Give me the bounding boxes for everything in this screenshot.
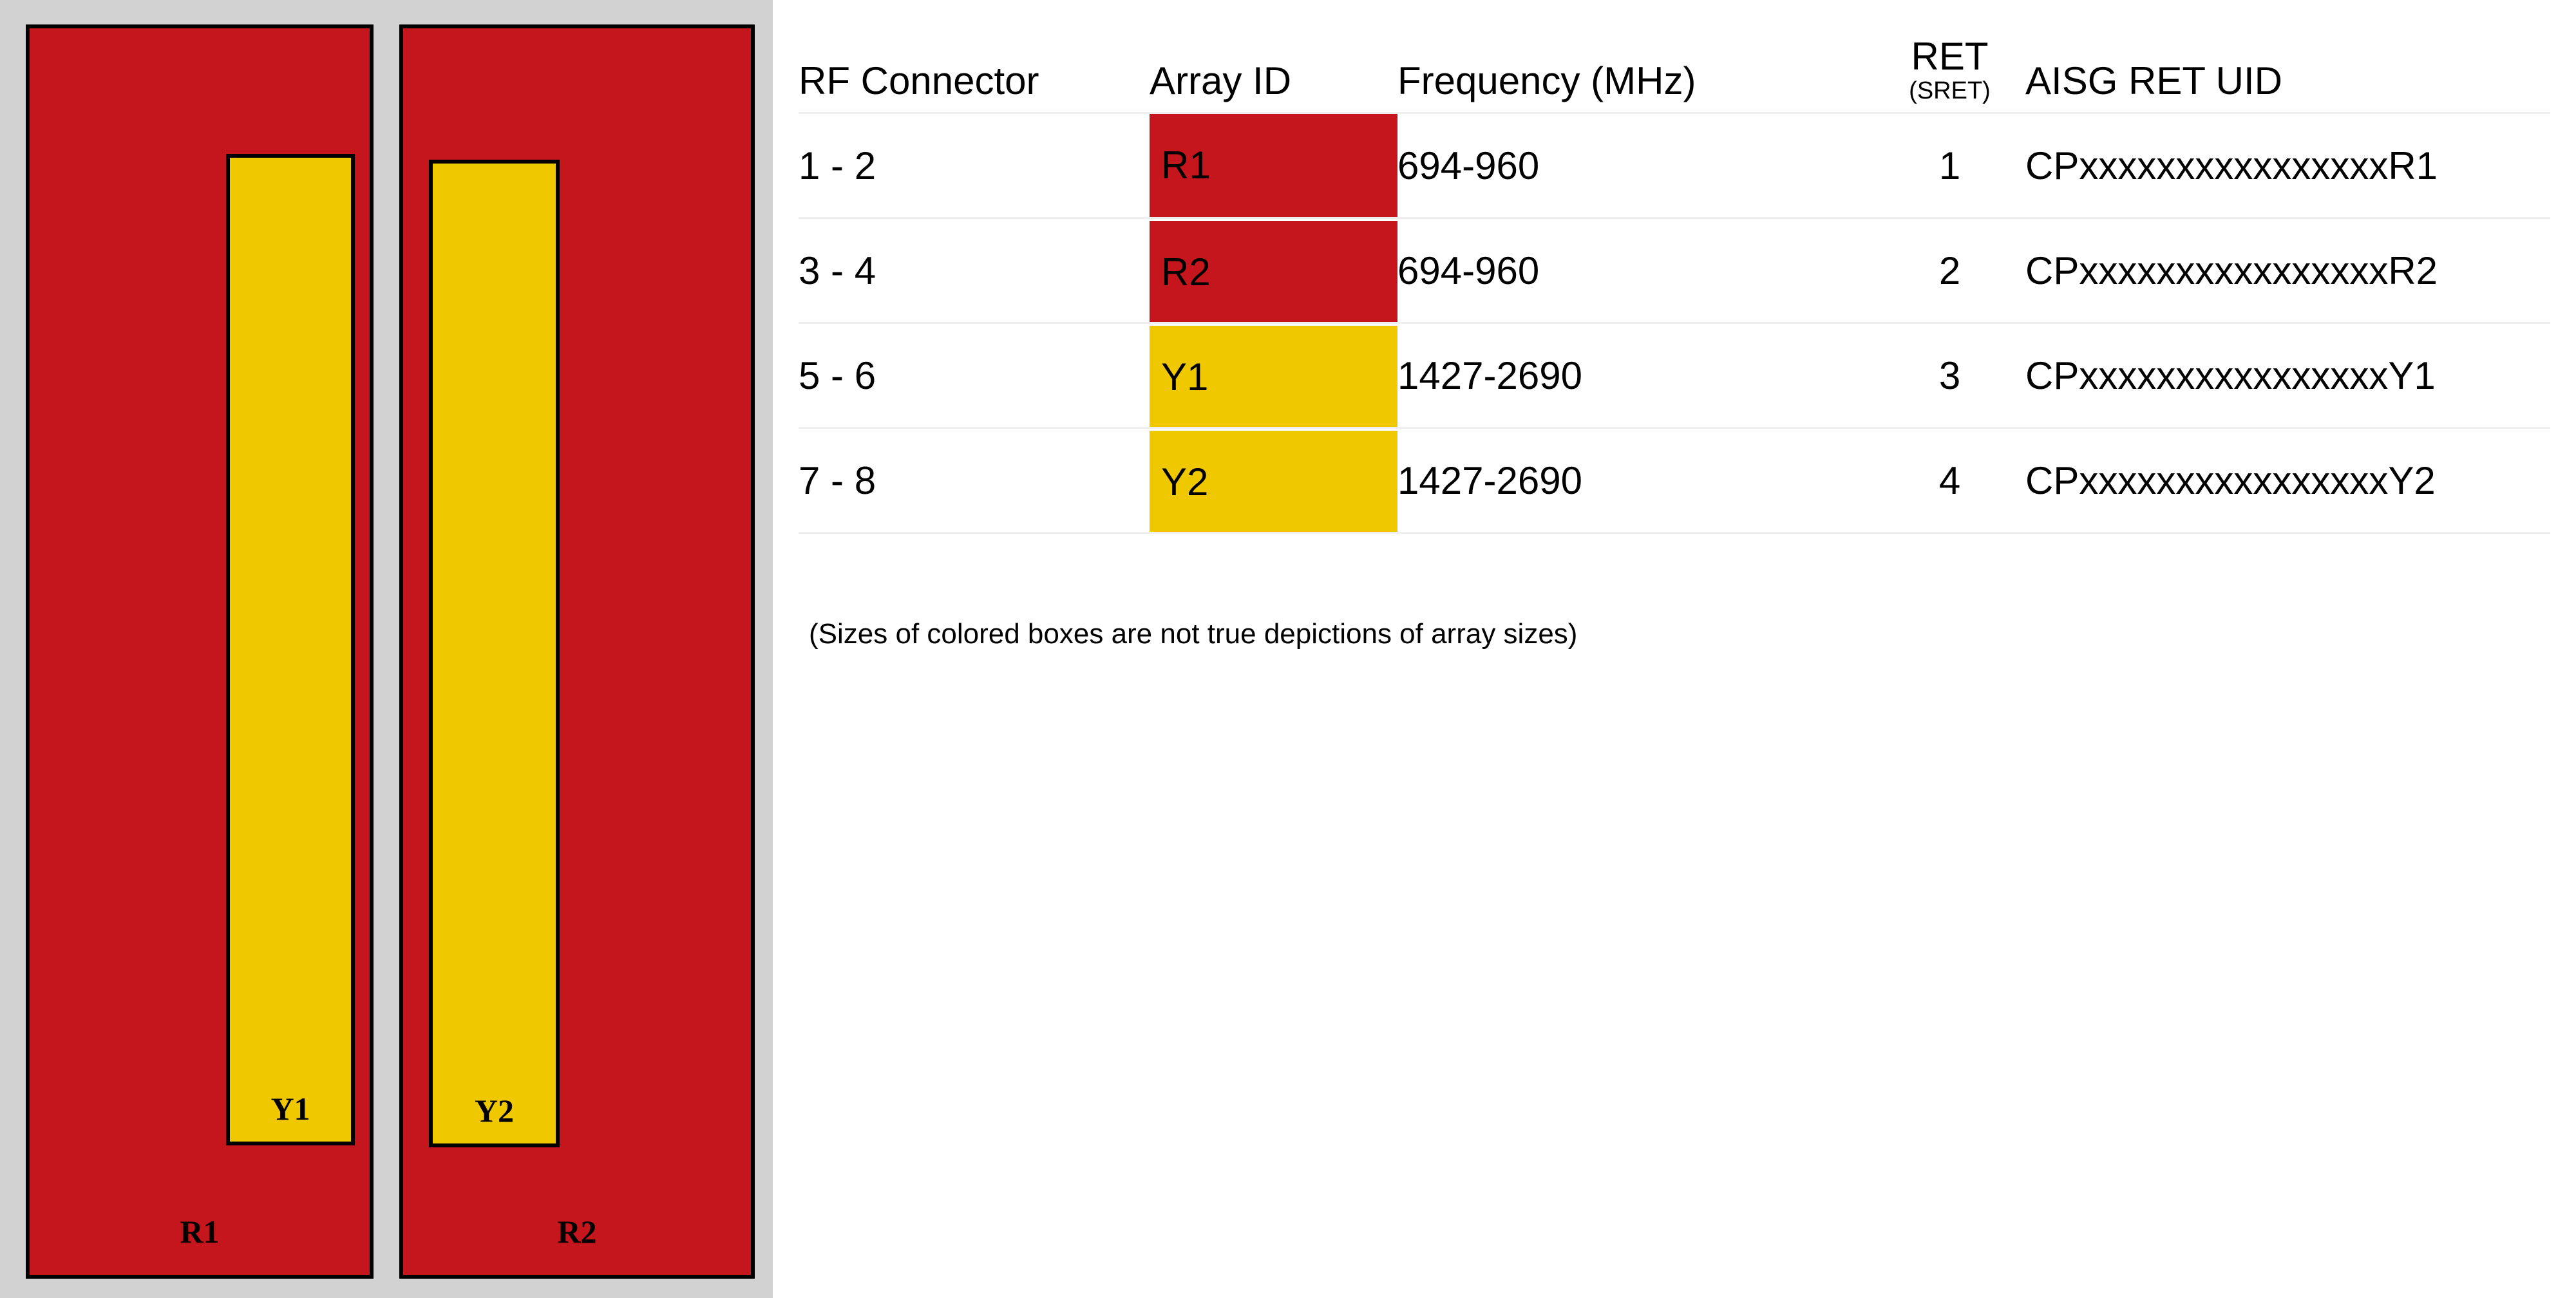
array-subpanel-y2-label: Y2 bbox=[433, 1092, 556, 1129]
cell-frequency: 694-960 bbox=[1397, 218, 1874, 323]
cell-array-id: R2 bbox=[1150, 218, 1397, 323]
table-row: 1 - 2 R1 694-960 1 CPxxxxxxxxxxxxxxxxR1 bbox=[799, 113, 2550, 218]
column-header-array-id: Array ID bbox=[1150, 0, 1397, 113]
array-subpanel-y2: Y2 bbox=[429, 160, 560, 1147]
cell-frequency: 1427-2690 bbox=[1397, 428, 1874, 533]
array-panel-r1: Y1 R1 bbox=[26, 24, 374, 1279]
array-specification-table: RF Connector Array ID Frequency (MHz) RE… bbox=[799, 0, 2550, 534]
cell-array-id: Y1 bbox=[1150, 323, 1397, 428]
table-header-row: RF Connector Array ID Frequency (MHz) RE… bbox=[799, 0, 2550, 113]
array-id-chip: R1 bbox=[1150, 114, 1397, 217]
column-header-ret: RET (SRET) bbox=[1874, 0, 2025, 113]
array-panel-r2-label: R2 bbox=[403, 1213, 751, 1250]
cell-frequency: 694-960 bbox=[1397, 113, 1874, 218]
cell-rf-connector: 1 - 2 bbox=[799, 113, 1150, 218]
array-panel-r1-label: R1 bbox=[30, 1213, 370, 1250]
table-row: 7 - 8 Y2 1427-2690 4 CPxxxxxxxxxxxxxxxxY… bbox=[799, 428, 2550, 533]
array-subpanel-y1-label: Y1 bbox=[230, 1090, 351, 1127]
antenna-array-diagram: Y1 R1 Y2 R2 bbox=[0, 0, 773, 1298]
cell-ret: 1 bbox=[1874, 113, 2025, 218]
table-row: 3 - 4 R2 694-960 2 CPxxxxxxxxxxxxxxxxR2 bbox=[799, 218, 2550, 323]
array-subpanel-y1: Y1 bbox=[226, 154, 355, 1145]
cell-aisg-ret-uid: CPxxxxxxxxxxxxxxxxR2 bbox=[2025, 218, 2550, 323]
cell-ret: 2 bbox=[1874, 218, 2025, 323]
column-header-ret-main: RET bbox=[1874, 37, 2025, 76]
cell-array-id: Y2 bbox=[1150, 428, 1397, 533]
cell-aisg-ret-uid: CPxxxxxxxxxxxxxxxxY2 bbox=[2025, 428, 2550, 533]
array-panel-r2: Y2 R2 bbox=[399, 24, 755, 1279]
column-header-aisg-ret-uid: AISG RET UID bbox=[2025, 0, 2550, 113]
table-row: 5 - 6 Y1 1427-2690 3 CPxxxxxxxxxxxxxxxxY… bbox=[799, 323, 2550, 428]
array-id-chip: Y1 bbox=[1150, 324, 1397, 427]
array-id-chip: R2 bbox=[1150, 219, 1397, 322]
cell-rf-connector: 3 - 4 bbox=[799, 218, 1150, 323]
cell-ret: 3 bbox=[1874, 323, 2025, 428]
cell-rf-connector: 7 - 8 bbox=[799, 428, 1150, 533]
column-header-rf-connector: RF Connector bbox=[799, 0, 1150, 113]
cell-ret: 4 bbox=[1874, 428, 2025, 533]
cell-frequency: 1427-2690 bbox=[1397, 323, 1874, 428]
cell-aisg-ret-uid: CPxxxxxxxxxxxxxxxxY1 bbox=[2025, 323, 2550, 428]
cell-array-id: R1 bbox=[1150, 113, 1397, 218]
column-header-ret-sub: (SRET) bbox=[1874, 79, 2025, 103]
cell-rf-connector: 5 - 6 bbox=[799, 323, 1150, 428]
array-id-chip: Y2 bbox=[1150, 429, 1397, 532]
table-footnote: (Sizes of colored boxes are not true dep… bbox=[809, 618, 1577, 650]
array-specification-panel: RF Connector Array ID Frequency (MHz) RE… bbox=[799, 0, 2550, 1298]
cell-aisg-ret-uid: CPxxxxxxxxxxxxxxxxR1 bbox=[2025, 113, 2550, 218]
column-header-frequency: Frequency (MHz) bbox=[1397, 0, 1874, 113]
